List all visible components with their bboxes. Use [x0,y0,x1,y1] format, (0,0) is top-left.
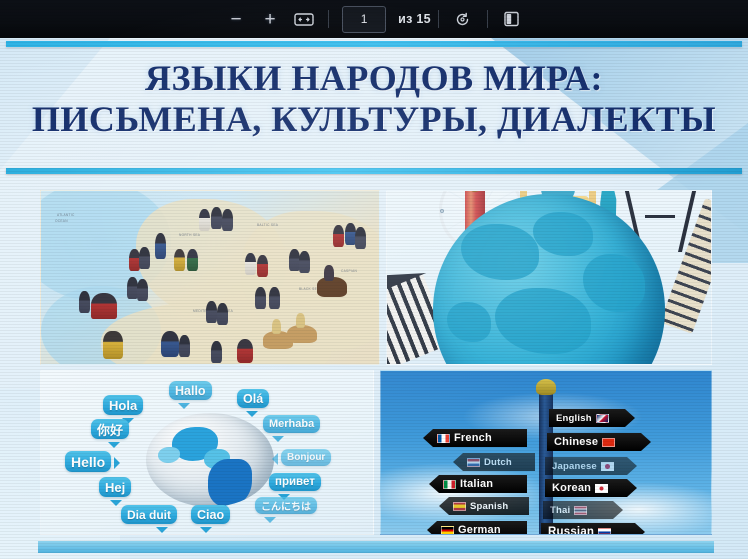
sign-korean: Korean [545,479,637,497]
sign-korean-label: Korean [552,482,591,494]
slide-title-line-2: ПИСЬМЕНА, КУЛЬТУРЫ, ДИАЛЕКТЫ [0,99,748,140]
sign-chinese-label: Chinese [554,436,598,448]
bubble-hallo: Hallo [169,381,212,400]
sign-dutch-label: Dutch [484,457,512,468]
bubble-hola: Hola [103,395,143,415]
flag-dutch-icon [467,458,480,467]
flag-english-icon [596,414,609,423]
sign-chinese: Chinese [547,433,651,451]
sign-japanese: Japanese [545,457,637,475]
sign-russian-label: Russian [548,526,594,535]
sign-thai-label: Thai [550,505,570,516]
image-globe-with-landmarks [386,190,712,365]
page-total-label: из 15 [398,12,431,26]
plus-icon: + [265,10,276,29]
sign-german-label: German [458,524,501,535]
slide-title: ЯЗЫКИ НАРОДОВ МИРА: ПИСЬМЕНА, КУЛЬТУРЫ, … [0,58,748,140]
accent-rule-top [6,41,742,47]
bubble-konnichiwa: こんにちは [255,497,317,514]
sign-english: English [549,409,635,427]
page-number-value: 1 [361,12,368,26]
sign-spanish: Spanish [439,497,529,515]
fit-width-button[interactable] [287,6,321,32]
sign-french: French [423,429,527,447]
sign-italian-label: Italian [460,478,493,490]
bubble-bonjour: Bonjour [281,449,331,466]
sign-dutch: Dutch [453,453,535,471]
screen-photo: − + 1 из 15 [0,0,748,559]
bubble-privet: привет [269,473,321,491]
minus-icon: − [231,10,242,29]
bubble-ola: Olá [237,389,269,408]
sign-italian: Italian [429,475,527,493]
pdf-viewer-toolbar: − + 1 из 15 [0,0,748,38]
accent-band-bottom [38,541,714,553]
image-language-signpost: English Chinese Japanese Korean Thai [380,370,712,535]
sign-english-label: English [556,413,592,424]
bubble-hej: Hej [99,477,131,497]
bubble-hello: Hello [65,451,111,472]
toolbar-divider-1 [328,10,329,28]
greetings-globe-sphere [146,413,274,507]
page-layout-button[interactable] [495,6,529,32]
zoom-out-button[interactable]: − [219,6,253,32]
rotate-button[interactable] [446,6,480,32]
flag-spanish-icon [453,502,466,511]
toolbar-divider-2 [438,10,439,28]
accent-rule-under-title [6,168,742,174]
bubble-ciao: Ciao [191,505,230,524]
sign-french-label: French [454,432,492,444]
flag-chinese-icon [602,438,615,447]
fit-width-icon [294,12,314,27]
page-layout-icon [503,10,521,28]
big-ben-clock-face [468,190,482,192]
flag-french-icon [437,434,450,443]
bubble-nihao: 你好 [91,419,129,439]
bubble-merhaba: Merhaba [263,415,320,433]
sign-russian: Russian [541,523,645,535]
flag-thai-icon [574,506,587,515]
sign-german: German [427,521,527,535]
image-map-of-europe: ATLANTIC OCEAN BALTIC SEA NORTH SEA MEDI… [40,190,380,365]
sign-thai: Thai [543,501,623,519]
signpost-cap [536,379,556,395]
flag-russian-icon [598,528,611,536]
flag-japanese-icon [601,462,614,471]
zoom-in-button[interactable]: + [253,6,287,32]
page-number-input[interactable]: 1 [342,6,386,33]
slide-title-line-1: ЯЗЫКИ НАРОДОВ МИРА: [0,58,748,99]
bubble-dia-duit: Dia duit [121,505,177,524]
sign-japanese-label: Japanese [552,461,597,472]
sign-spanish-label: Spanish [470,501,508,512]
toolbar-divider-3 [487,10,488,28]
flag-german-icon [441,526,454,535]
flag-korean-icon [595,484,608,493]
rotate-icon [453,10,472,29]
slide-image-grid: ATLANTIC OCEAN BALTIC SEA NORTH SEA MEDI… [40,190,712,535]
presentation-slide: ЯЗЫКИ НАРОДОВ МИРА: ПИСЬМЕНА, КУЛЬТУРЫ, … [0,38,748,559]
flag-italian-icon [443,480,456,489]
image-greetings-globe: Hola Hallo Olá 你好 Merhaba Hello Bonjour … [40,370,374,535]
